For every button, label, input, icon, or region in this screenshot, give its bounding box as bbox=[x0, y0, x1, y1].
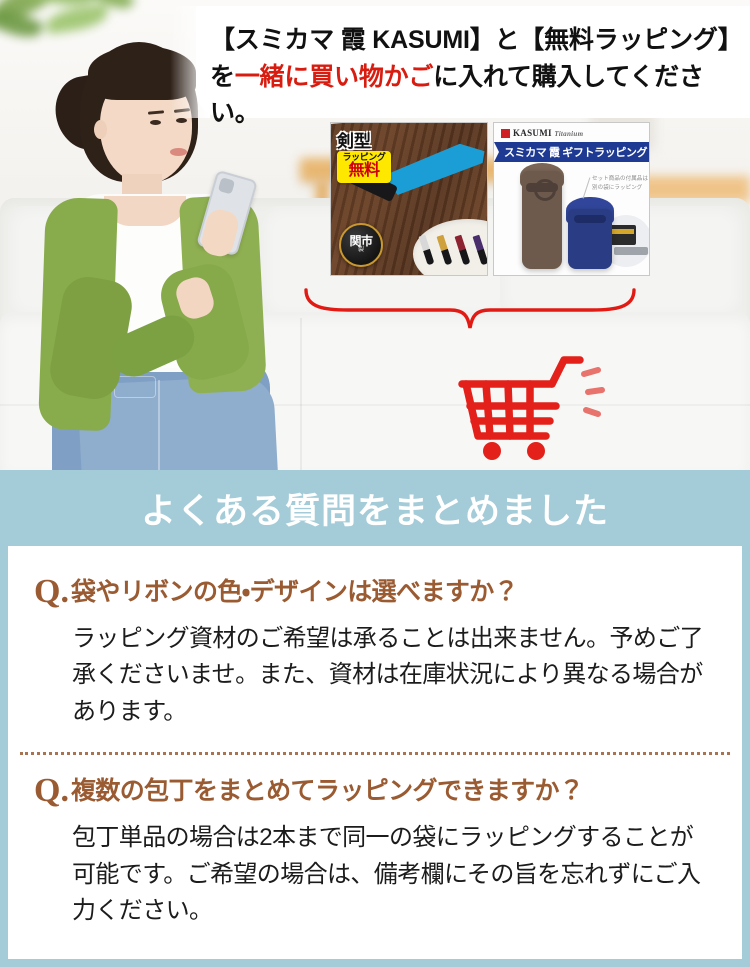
promo-page: 【スミカマ 霞 KASUMI】と【無料ラッピング】 を一緒に買い物かごに入れて購… bbox=[0, 0, 750, 967]
headline-line-2: を一緒に買い物かごに入れて購入してください。 bbox=[210, 59, 742, 132]
wrapping-banner-text: スミカマ 霞 ギフトラッピング bbox=[504, 144, 647, 160]
brand-sub: Titanium bbox=[554, 130, 583, 138]
faq-banner-title: よくある質問をまとめました bbox=[141, 483, 609, 534]
seal-main-text: 関市 bbox=[349, 235, 372, 247]
faq-item-1: Q. 袋やリボンの色・デザインは選べますか？ ラッピング資材のご希望は承ることは… bbox=[8, 546, 742, 730]
brand-name: KASUMI bbox=[513, 128, 552, 138]
faq-question-text: 袋やリボンの色・デザインは選べますか？ bbox=[71, 578, 518, 608]
product-image-gift-wrapping[interactable]: KASUMI Titanium スミカマ 霞 ギフトラッピング セット商品の付属… bbox=[493, 122, 650, 276]
faq-question-row: Q. 袋やリボンの色・デザインは選べますか？ bbox=[34, 578, 716, 609]
question-mark-prefix: Q. bbox=[34, 774, 69, 808]
seal-sub-text: 製 bbox=[358, 247, 364, 255]
question-mark-prefix: Q. bbox=[34, 575, 69, 609]
faq-item-2: Q. 複数の包丁をまとめてラッピングできますか？ 包丁単品の場合は2本まで同一の… bbox=[8, 755, 742, 929]
knife-type-label: 剣型 bbox=[337, 127, 371, 152]
red-bracket-arrow-icon bbox=[300, 282, 640, 330]
faq-banner: よくある質問をまとめました bbox=[0, 470, 750, 546]
free-wrapping-badge: ラッピング 無料 bbox=[337, 151, 391, 183]
headline-highlight: 一緒に買い物かご bbox=[235, 63, 433, 91]
headline-prefix: を bbox=[210, 63, 235, 91]
wrapping-banner: スミカマ 霞 ギフトラッピング bbox=[494, 142, 650, 162]
wrapping-note: セット商品の付属品は別の袋にラッピング bbox=[592, 175, 650, 193]
faq-question-text: 複数の包丁をまとめてラッピングできますか？ bbox=[71, 777, 583, 807]
hero-section: 【スミカマ 霞 KASUMI】と【無料ラッピング】 を一緒に買い物かごに入れて購… bbox=[0, 0, 750, 470]
hero-headline: 【スミカマ 霞 KASUMI】と【無料ラッピング】 を一緒に買い物かごに入れて購… bbox=[210, 22, 742, 132]
faq-answer-text: 包丁単品の場合は2本まで同一の袋にラッピングすることが可能です。ご希望の場合は、… bbox=[72, 820, 716, 929]
seki-city-seal-icon: 関市 製 bbox=[339, 223, 383, 267]
badge-line-2: 無料 bbox=[337, 163, 391, 180]
product-image-knife[interactable]: 剣型 ラッピング 無料 関市 製 bbox=[330, 122, 488, 276]
faq-card: Q. 袋やリボンの色・デザインは選べますか？ ラッピング資材のご希望は承ることは… bbox=[0, 546, 750, 967]
faq-question-row: Q. 複数の包丁をまとめてラッピングできますか？ bbox=[34, 777, 716, 808]
headline-line-1: 【スミカマ 霞 KASUMI】と【無料ラッピング】 bbox=[210, 22, 742, 59]
logo-square-icon bbox=[501, 129, 510, 138]
shopping-cart-icon bbox=[448, 348, 608, 464]
faq-answer-text: ラッピング資材のご希望は承ることは出来ません。予めご了承くださいませ。また、資材… bbox=[72, 621, 716, 730]
kasumi-logo: KASUMI Titanium bbox=[501, 128, 583, 138]
faq-divider bbox=[20, 752, 730, 755]
